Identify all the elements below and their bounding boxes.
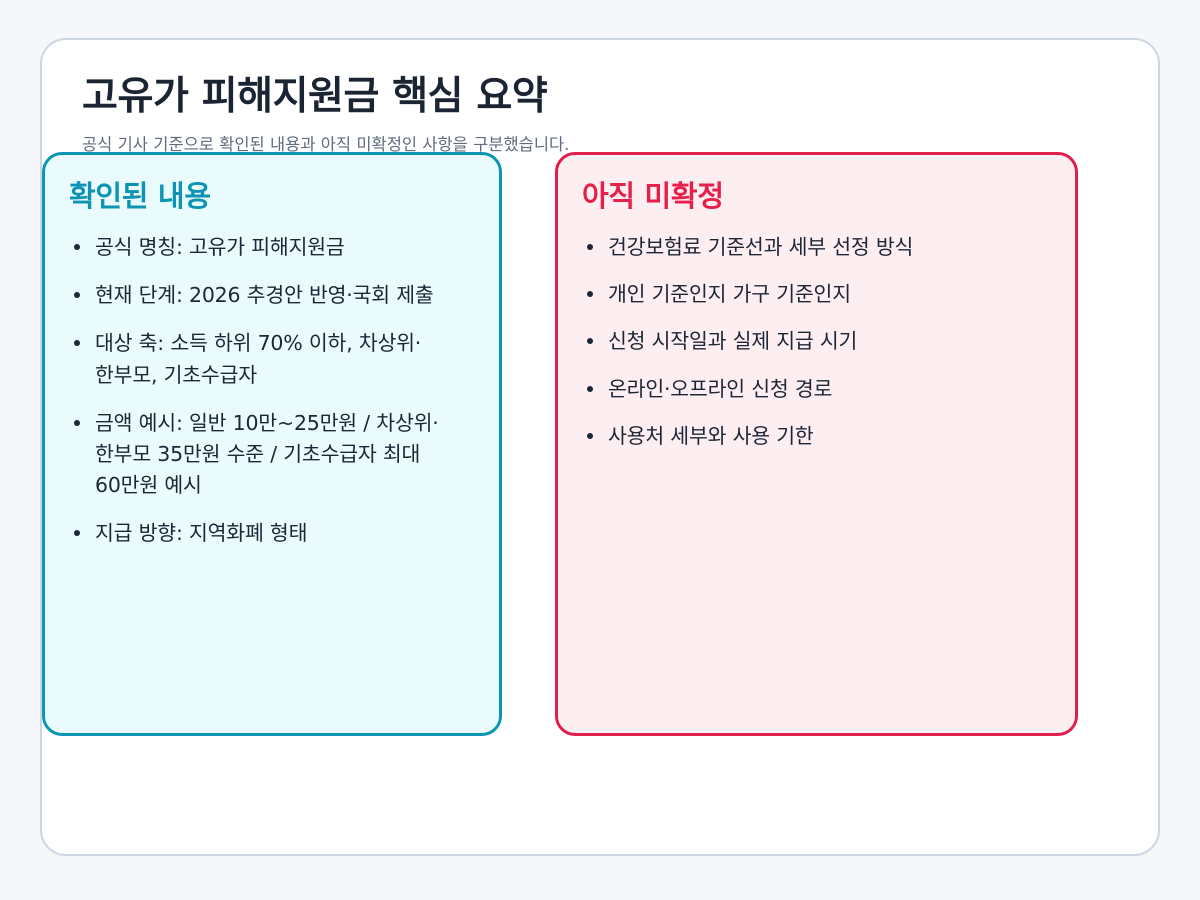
bullet-dot-icon <box>587 433 593 439</box>
panel-confirmed-list: 공식 명칭: 고유가 피해지원금 현재 단계: 2026 추경안 반영·국회 제… <box>69 232 477 549</box>
panel-pending-list: 건강보험료 기준선과 세부 선정 방식 개인 기준인지 가구 기준인지 신청 시… <box>582 232 1053 452</box>
bullet-dot-icon <box>74 420 80 426</box>
bullet-dot-icon <box>74 530 80 536</box>
bullet-dot-icon <box>587 386 593 392</box>
panel-confirmed-heading: 확인된 내용 <box>69 177 477 216</box>
bullet-dot-icon <box>587 291 593 297</box>
list-item: 건강보험료 기준선과 세부 선정 방식 <box>582 232 1053 263</box>
list-item: 온라인·오프라인 신청 경로 <box>582 374 1053 405</box>
list-item: 공식 명칭: 고유가 피해지원금 <box>69 232 477 263</box>
list-item: 신청 시작일과 실제 지급 시기 <box>582 326 1053 357</box>
list-item-label: 공식 명칭: 고유가 피해지원금 <box>95 235 345 259</box>
bullet-dot-icon <box>74 244 80 250</box>
list-item: 금액 예시: 일반 10만~25만원 / 차상위·한부모 35만원 수준 / 기… <box>69 408 477 501</box>
list-item-label: 개인 기준인지 가구 기준인지 <box>608 282 851 306</box>
card-header: 고유가 피해지원금 핵심 요약 공식 기사 기준으로 확인된 내용과 아직 미확… <box>82 74 1118 156</box>
panel-pending-heading: 아직 미확정 <box>582 177 1053 216</box>
list-item: 사용처 세부와 사용 기한 <box>582 421 1053 452</box>
list-item-label: 온라인·오프라인 신청 경로 <box>608 377 832 401</box>
list-item: 현재 단계: 2026 추경안 반영·국회 제출 <box>69 280 477 311</box>
list-item-label: 대상 축: 소득 하위 70% 이하, 차상위·한부모, 기초수급자 <box>95 331 421 386</box>
bullet-dot-icon <box>587 244 593 250</box>
page-title: 고유가 피해지원금 핵심 요약 <box>82 74 1118 120</box>
bullet-dot-icon <box>587 338 593 344</box>
list-item: 개인 기준인지 가구 기준인지 <box>582 279 1053 310</box>
list-item-label: 사용처 세부와 사용 기한 <box>608 424 814 448</box>
panel-pending: 아직 미확정 건강보험료 기준선과 세부 선정 방식 개인 기준인지 가구 기준… <box>555 152 1078 736</box>
bullet-dot-icon <box>74 340 80 346</box>
list-item-label: 금액 예시: 일반 10만~25만원 / 차상위·한부모 35만원 수준 / 기… <box>95 411 439 497</box>
panel-confirmed: 확인된 내용 공식 명칭: 고유가 피해지원금 현재 단계: 2026 추경안 … <box>42 152 502 736</box>
list-item-label: 지급 방향: 지역화폐 형태 <box>95 521 307 545</box>
list-item-label: 건강보험료 기준선과 세부 선정 방식 <box>608 235 913 259</box>
panel-container: 확인된 내용 공식 명칭: 고유가 피해지원금 현재 단계: 2026 추경안 … <box>42 152 1078 736</box>
list-item: 대상 축: 소득 하위 70% 이하, 차상위·한부모, 기초수급자 <box>69 328 477 390</box>
bullet-dot-icon <box>74 292 80 298</box>
page-root: 고유가 피해지원금 핵심 요약 공식 기사 기준으로 확인된 내용과 아직 미확… <box>0 0 1200 900</box>
list-item: 지급 방향: 지역화폐 형태 <box>69 518 477 549</box>
list-item-label: 현재 단계: 2026 추경안 반영·국회 제출 <box>95 283 434 307</box>
list-item-label: 신청 시작일과 실제 지급 시기 <box>608 329 857 353</box>
